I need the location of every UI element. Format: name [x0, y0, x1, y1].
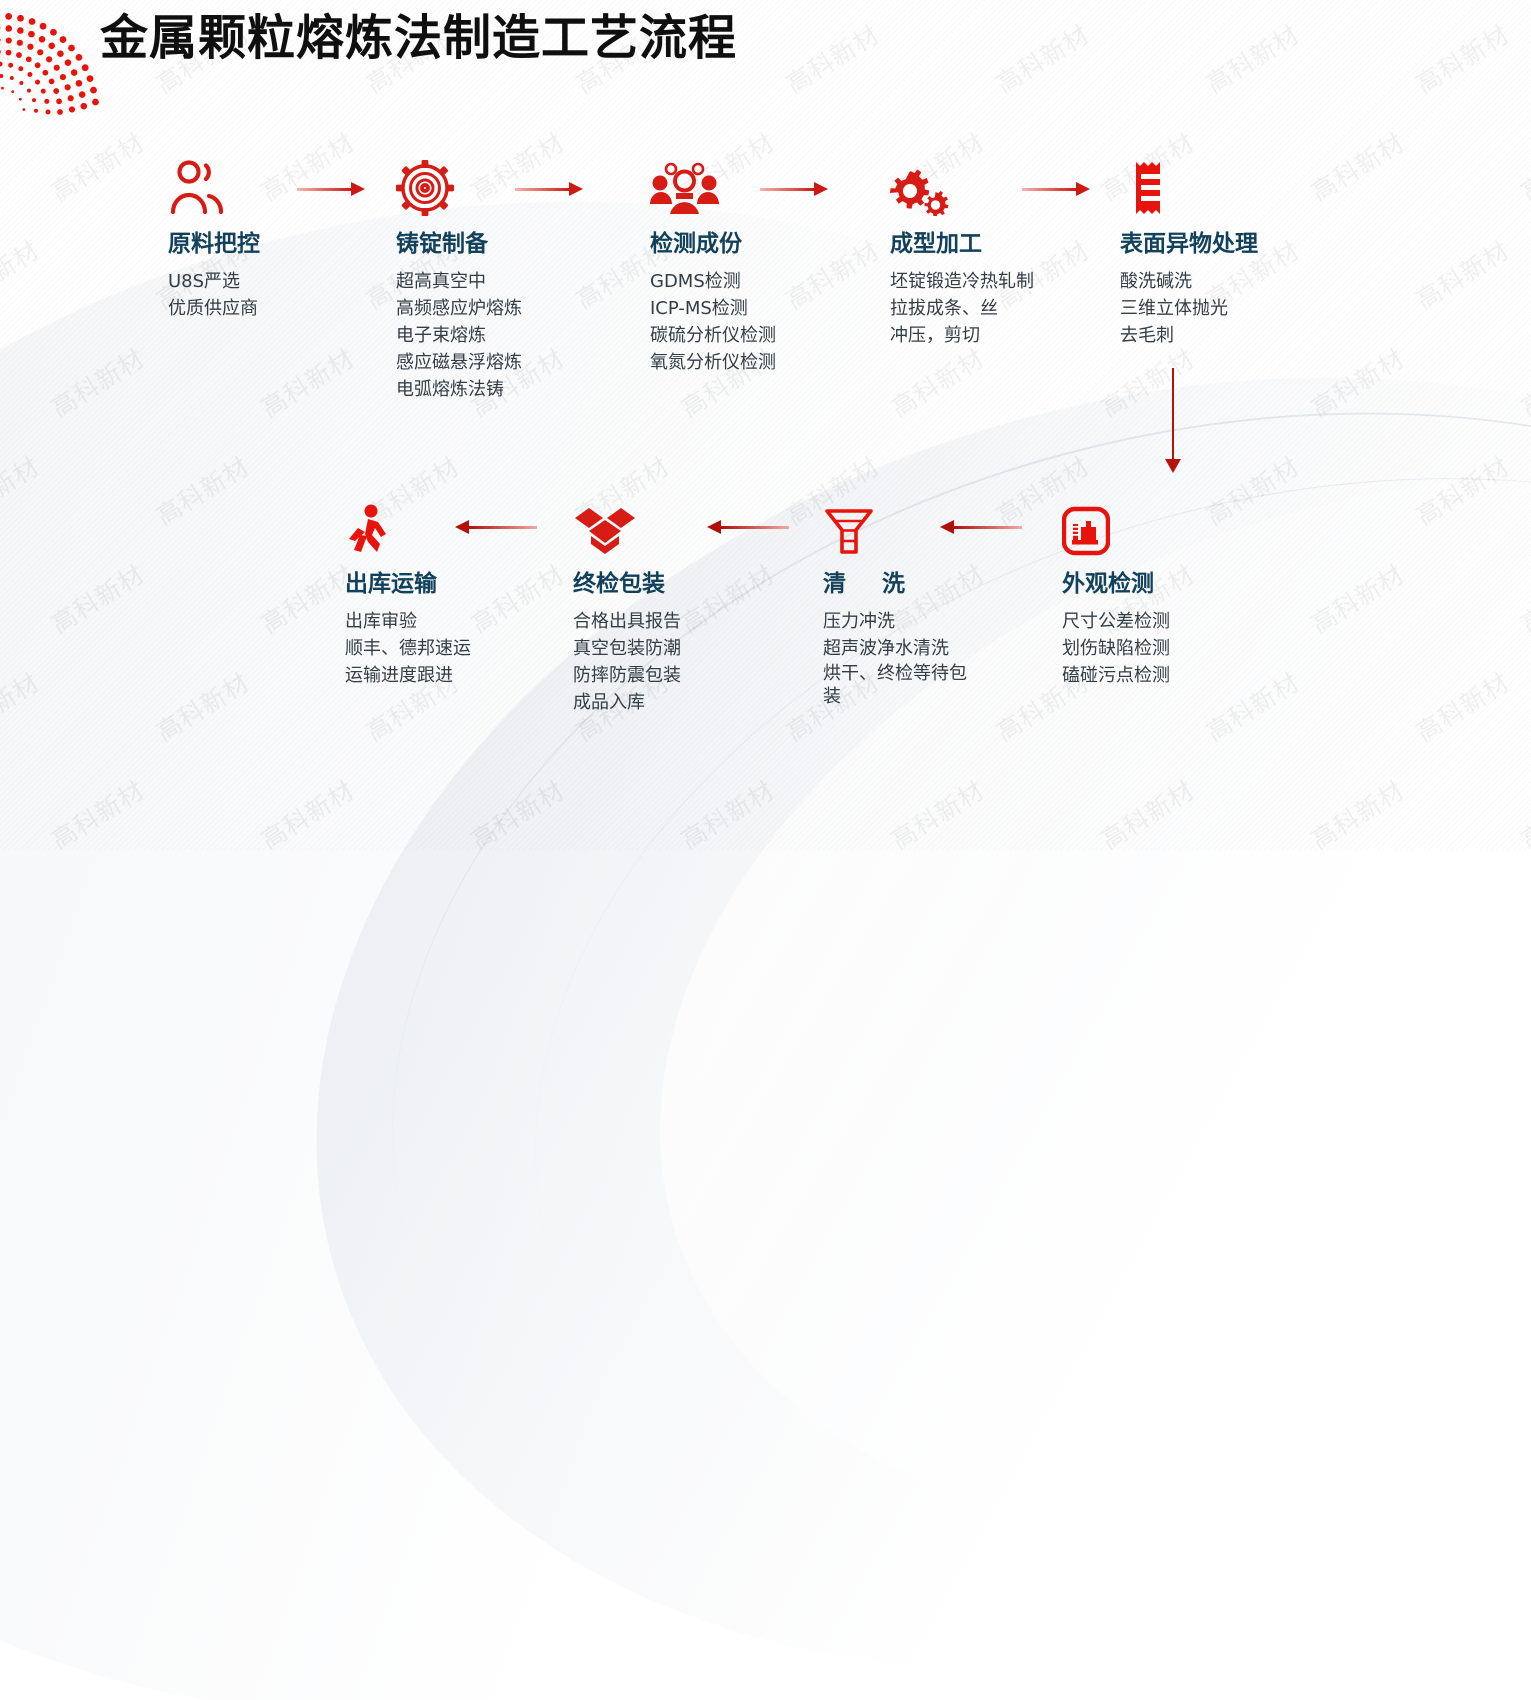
- list-item: 出库审验: [345, 608, 471, 635]
- flow-step-1-items: U8S严选 优质供应商: [168, 268, 260, 322]
- list-item: 超高真空中: [396, 268, 522, 295]
- list-item: 去毛刺: [1120, 322, 1258, 349]
- flow-step-5-title: 表面异物处理: [1120, 224, 1258, 258]
- flow-step-4-title: 成型加工: [890, 224, 1034, 258]
- list-item: 尺寸公差检测: [1062, 608, 1170, 635]
- two-gears-icon: [890, 158, 1034, 216]
- flow-step-1-title: 原料把控: [168, 224, 260, 258]
- list-item: GDMS检测: [650, 268, 776, 295]
- flow-step-4-items: 坯锭锻造冷热轧制 拉拔成条、丝 冲压，剪切: [890, 268, 1034, 349]
- open-box-icon: [573, 498, 681, 556]
- list-item: 压力冲洗: [823, 608, 973, 635]
- page-title: 金属颗粒熔炼法制造工艺流程: [100, 6, 737, 70]
- arrow-step4-to-step5: [1022, 183, 1090, 195]
- list-item: 拉拔成条、丝: [890, 295, 1034, 322]
- flow-step-2-title: 铸锭制备: [396, 224, 522, 258]
- flow-step-5-items: 酸洗碱洗 三维立体抛光 去毛刺: [1120, 268, 1258, 349]
- arrow-step3-to-step4: [760, 183, 828, 195]
- list-item: 三维立体抛光: [1120, 295, 1258, 322]
- flow-step-7-title: 清洗: [823, 564, 973, 598]
- two-people-icon: [168, 158, 260, 216]
- list-item: 烘干、终检等待包装: [823, 662, 973, 708]
- title-bar: 金属颗粒熔炼法制造工艺流程: [100, 6, 737, 70]
- flow-step-3-title: 检测成份: [650, 224, 776, 258]
- walking-person-icon: [345, 498, 471, 556]
- flow-step-6-title: 外观检测: [1062, 564, 1170, 598]
- list-item: 氧氮分析仪检测: [650, 349, 776, 376]
- list-item: 顺丰、德邦速运: [345, 635, 471, 662]
- flow-step-9[interactable]: 出库运输 出库审验 顺丰、德邦速运 运输进度跟进: [345, 498, 471, 689]
- list-item: 电子束熔炼: [396, 322, 522, 349]
- flow-step-2-items: 超高真空中 高频感应炉熔炼 电子束熔炼 感应磁悬浮熔炼 电弧熔炼法铸: [396, 268, 522, 403]
- flow-step-7[interactable]: 清洗 压力冲洗 超声波净水清洗 烘干、终检等待包装: [823, 498, 973, 708]
- flow-step-1[interactable]: 原料把控 U8S严选 优质供应商: [168, 158, 260, 322]
- arrow-step5-to-step6: [1167, 368, 1179, 473]
- list-item: 划伤缺陷检测: [1062, 635, 1170, 662]
- flow-step-9-title: 出库运输: [345, 564, 471, 598]
- list-item: 真空包装防潮: [573, 635, 681, 662]
- flow-step-6-items: 尺寸公差检测 划伤缺陷检测 磕碰污点检测: [1062, 608, 1170, 689]
- list-item: 超声波净水清洗: [823, 635, 973, 662]
- list-item: 酸洗碱洗: [1120, 268, 1258, 295]
- list-item: 冲压，剪切: [890, 322, 1034, 349]
- factory-building-icon: [1062, 498, 1170, 556]
- list-item: 感应磁悬浮熔炼: [396, 349, 522, 376]
- flow-step-4[interactable]: 成型加工 坯锭锻造冷热轧制 拉拔成条、丝 冲压，剪切: [890, 158, 1034, 349]
- process-flow-diagram: 原料把控 U8S严选 优质供应商: [0, 0, 1531, 850]
- list-item: 合格出具报告: [573, 608, 681, 635]
- list-item: ICP-MS检测: [650, 295, 776, 322]
- flow-step-5[interactable]: 表面异物处理 酸洗碱洗 三维立体抛光 去毛刺: [1120, 158, 1258, 349]
- arrow-step1-to-step2: [297, 183, 365, 195]
- arrow-step7-to-step8: [707, 521, 789, 533]
- list-item: 优质供应商: [168, 295, 260, 322]
- flow-step-7-items: 压力冲洗 超声波净水清洗 烘干、终检等待包装: [823, 608, 973, 708]
- list-item: U8S严选: [168, 268, 260, 295]
- list-item: 成品入库: [573, 689, 681, 716]
- list-item: 磕碰污点检测: [1062, 662, 1170, 689]
- people-group-icon: [650, 158, 776, 216]
- list-item: 碳硫分析仪检测: [650, 322, 776, 349]
- flow-step-8-items: 合格出具报告 真空包装防潮 防摔防震包装 成品入库: [573, 608, 681, 716]
- flow-step-6[interactable]: 外观检测 尺寸公差检测 划伤缺陷检测 磕碰污点检测: [1062, 498, 1170, 689]
- arrow-step2-to-step3: [515, 183, 583, 195]
- flow-step-2[interactable]: 铸锭制备 超高真空中 高频感应炉熔炼 电子束熔炼 感应磁悬浮熔炼 电弧熔炼法铸: [396, 158, 522, 403]
- list-item: 电弧熔炼法铸: [396, 376, 522, 403]
- document-lines-icon: [1120, 158, 1258, 216]
- flow-step-9-items: 出库审验 顺丰、德邦速运 运输进度跟进: [345, 608, 471, 689]
- flow-step-3-items: GDMS检测 ICP-MS检测 碳硫分析仪检测 氧氮分析仪检测: [650, 268, 776, 376]
- list-item: 运输进度跟进: [345, 662, 471, 689]
- list-item: 防摔防震包装: [573, 662, 681, 689]
- gear-target-icon: [396, 158, 522, 216]
- list-item: 高频感应炉熔炼: [396, 295, 522, 322]
- funnel-icon: [823, 498, 973, 556]
- flow-step-3[interactable]: 检测成份 GDMS检测 ICP-MS检测 碳硫分析仪检测 氧氮分析仪检测: [650, 158, 776, 376]
- list-item: 坯锭锻造冷热轧制: [890, 268, 1034, 295]
- flow-step-8[interactable]: 终检包装 合格出具报告 真空包装防潮 防摔防震包装 成品入库: [573, 498, 681, 716]
- flow-step-8-title: 终检包装: [573, 564, 681, 598]
